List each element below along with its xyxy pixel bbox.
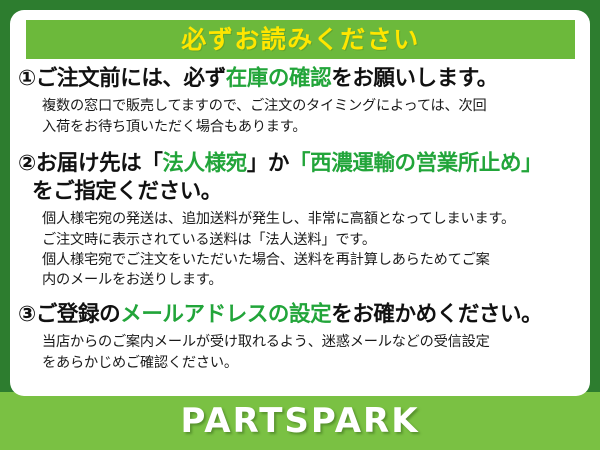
notice-item-1-body-line-2: 入荷をお待ち頂いただく場合もあります。 bbox=[42, 117, 582, 137]
header-title: 必ずお読みください bbox=[181, 27, 420, 52]
notice-item-3-heading: ③ご登録のメールアドレスの設定をお確かめください。 bbox=[18, 301, 582, 329]
notice-item-1-heading-part-1: ご注文前には、必ず bbox=[36, 66, 226, 91]
notice-item-3-heading-part-3: をお確かめください。 bbox=[331, 302, 542, 327]
notice-item-3: ③ご登録のメールアドレスの設定をお確かめください。 当店からのご案内メールが受け… bbox=[18, 301, 582, 373]
notice-item-2-heading-part-1: お届け先は「 bbox=[36, 151, 163, 176]
white-content-panel: 必ずお読みください ①ご注文前には、必ず在庫の確認をお願いします。 複数の窓口で… bbox=[10, 10, 590, 396]
notice-item-3-body-line-2: をあらかじめご確認ください。 bbox=[42, 353, 582, 373]
notice-item-3-heading-highlight: メールアドレスの設定 bbox=[120, 302, 331, 327]
notice-item-2-body-line-1: 個人様宅宛の発送は、追加送料が発生し、非常に高額となってしまいます。 bbox=[42, 209, 582, 229]
notice-item-2-heading-highlight-1: 法人様宛 bbox=[162, 151, 246, 176]
notice-item-2-body-line-2: ご注文時に表示されている送料は「法人送料」です。 bbox=[42, 230, 582, 250]
notice-item-2-number: ② bbox=[18, 151, 36, 176]
notice-item-1-heading-part-3: をお願いします。 bbox=[331, 66, 498, 91]
notice-item-2-heading: ②お届け先は「法人様宛」か「西濃運輸の営業所止め」 をご指定ください。 bbox=[18, 150, 582, 207]
notice-item-1: ①ご注文前には、必ず在庫の確認をお願いします。 複数の窓口で販売してますので、ご… bbox=[18, 65, 582, 137]
notice-item-3-body: 当店からのご案内メールが受け取れるよう、迷惑メールなどの受信設定 をあらかじめご… bbox=[42, 332, 582, 372]
notice-item-2-body-line-3: 個人様宅宛でご注文をいただいた場合、送料を再計算しあらためてご案 bbox=[42, 250, 582, 270]
notice-item-2: ②お届け先は「法人様宛」か「西濃運輸の営業所止め」 をご指定ください。 個人様宅… bbox=[18, 150, 582, 290]
notice-banner: 必ずお読みください ①ご注文前には、必ず在庫の確認をお願いします。 複数の窓口で… bbox=[0, 0, 600, 450]
notice-item-1-heading: ①ご注文前には、必ず在庫の確認をお願いします。 bbox=[18, 65, 582, 93]
notice-item-1-body: 複数の窓口で販売してますので、ご注文のタイミングによっては、次回 入荷をお待ち頂… bbox=[42, 96, 582, 136]
notice-item-1-body-line-1: 複数の窓口で販売してますので、ご注文のタイミングによっては、次回 bbox=[42, 96, 582, 116]
notice-item-1-number: ① bbox=[18, 66, 36, 91]
notice-item-2-body-line-4: 内のメールをお送りします。 bbox=[42, 270, 582, 290]
footer-logo-area: PARTSPARK bbox=[0, 392, 600, 450]
notice-item-2-heading-highlight-2: 「西濃運輸の営業所止め」 bbox=[289, 151, 542, 176]
notice-item-2-body: 個人様宅宛の発送は、追加送料が発生し、非常に高額となってしまいます。 ご注文時に… bbox=[42, 209, 582, 290]
notice-item-2-heading-line-2: をご指定ください。 bbox=[32, 178, 582, 206]
notice-item-1-heading-highlight: 在庫の確認 bbox=[226, 66, 332, 91]
notice-item-2-heading-part-3: 」か bbox=[247, 151, 289, 176]
header-banner: 必ずお読みください bbox=[26, 20, 575, 59]
notice-item-3-number: ③ bbox=[18, 302, 36, 327]
notice-item-3-body-line-1: 当店からのご案内メールが受け取れるよう、迷惑メールなどの受信設定 bbox=[42, 332, 582, 352]
brand-logo-partspark: PARTSPARK bbox=[180, 404, 419, 438]
notice-items-list: ①ご注文前には、必ず在庫の確認をお願いします。 複数の窓口で販売してますので、ご… bbox=[10, 65, 590, 373]
notice-item-3-heading-part-1: ご登録の bbox=[36, 302, 120, 327]
